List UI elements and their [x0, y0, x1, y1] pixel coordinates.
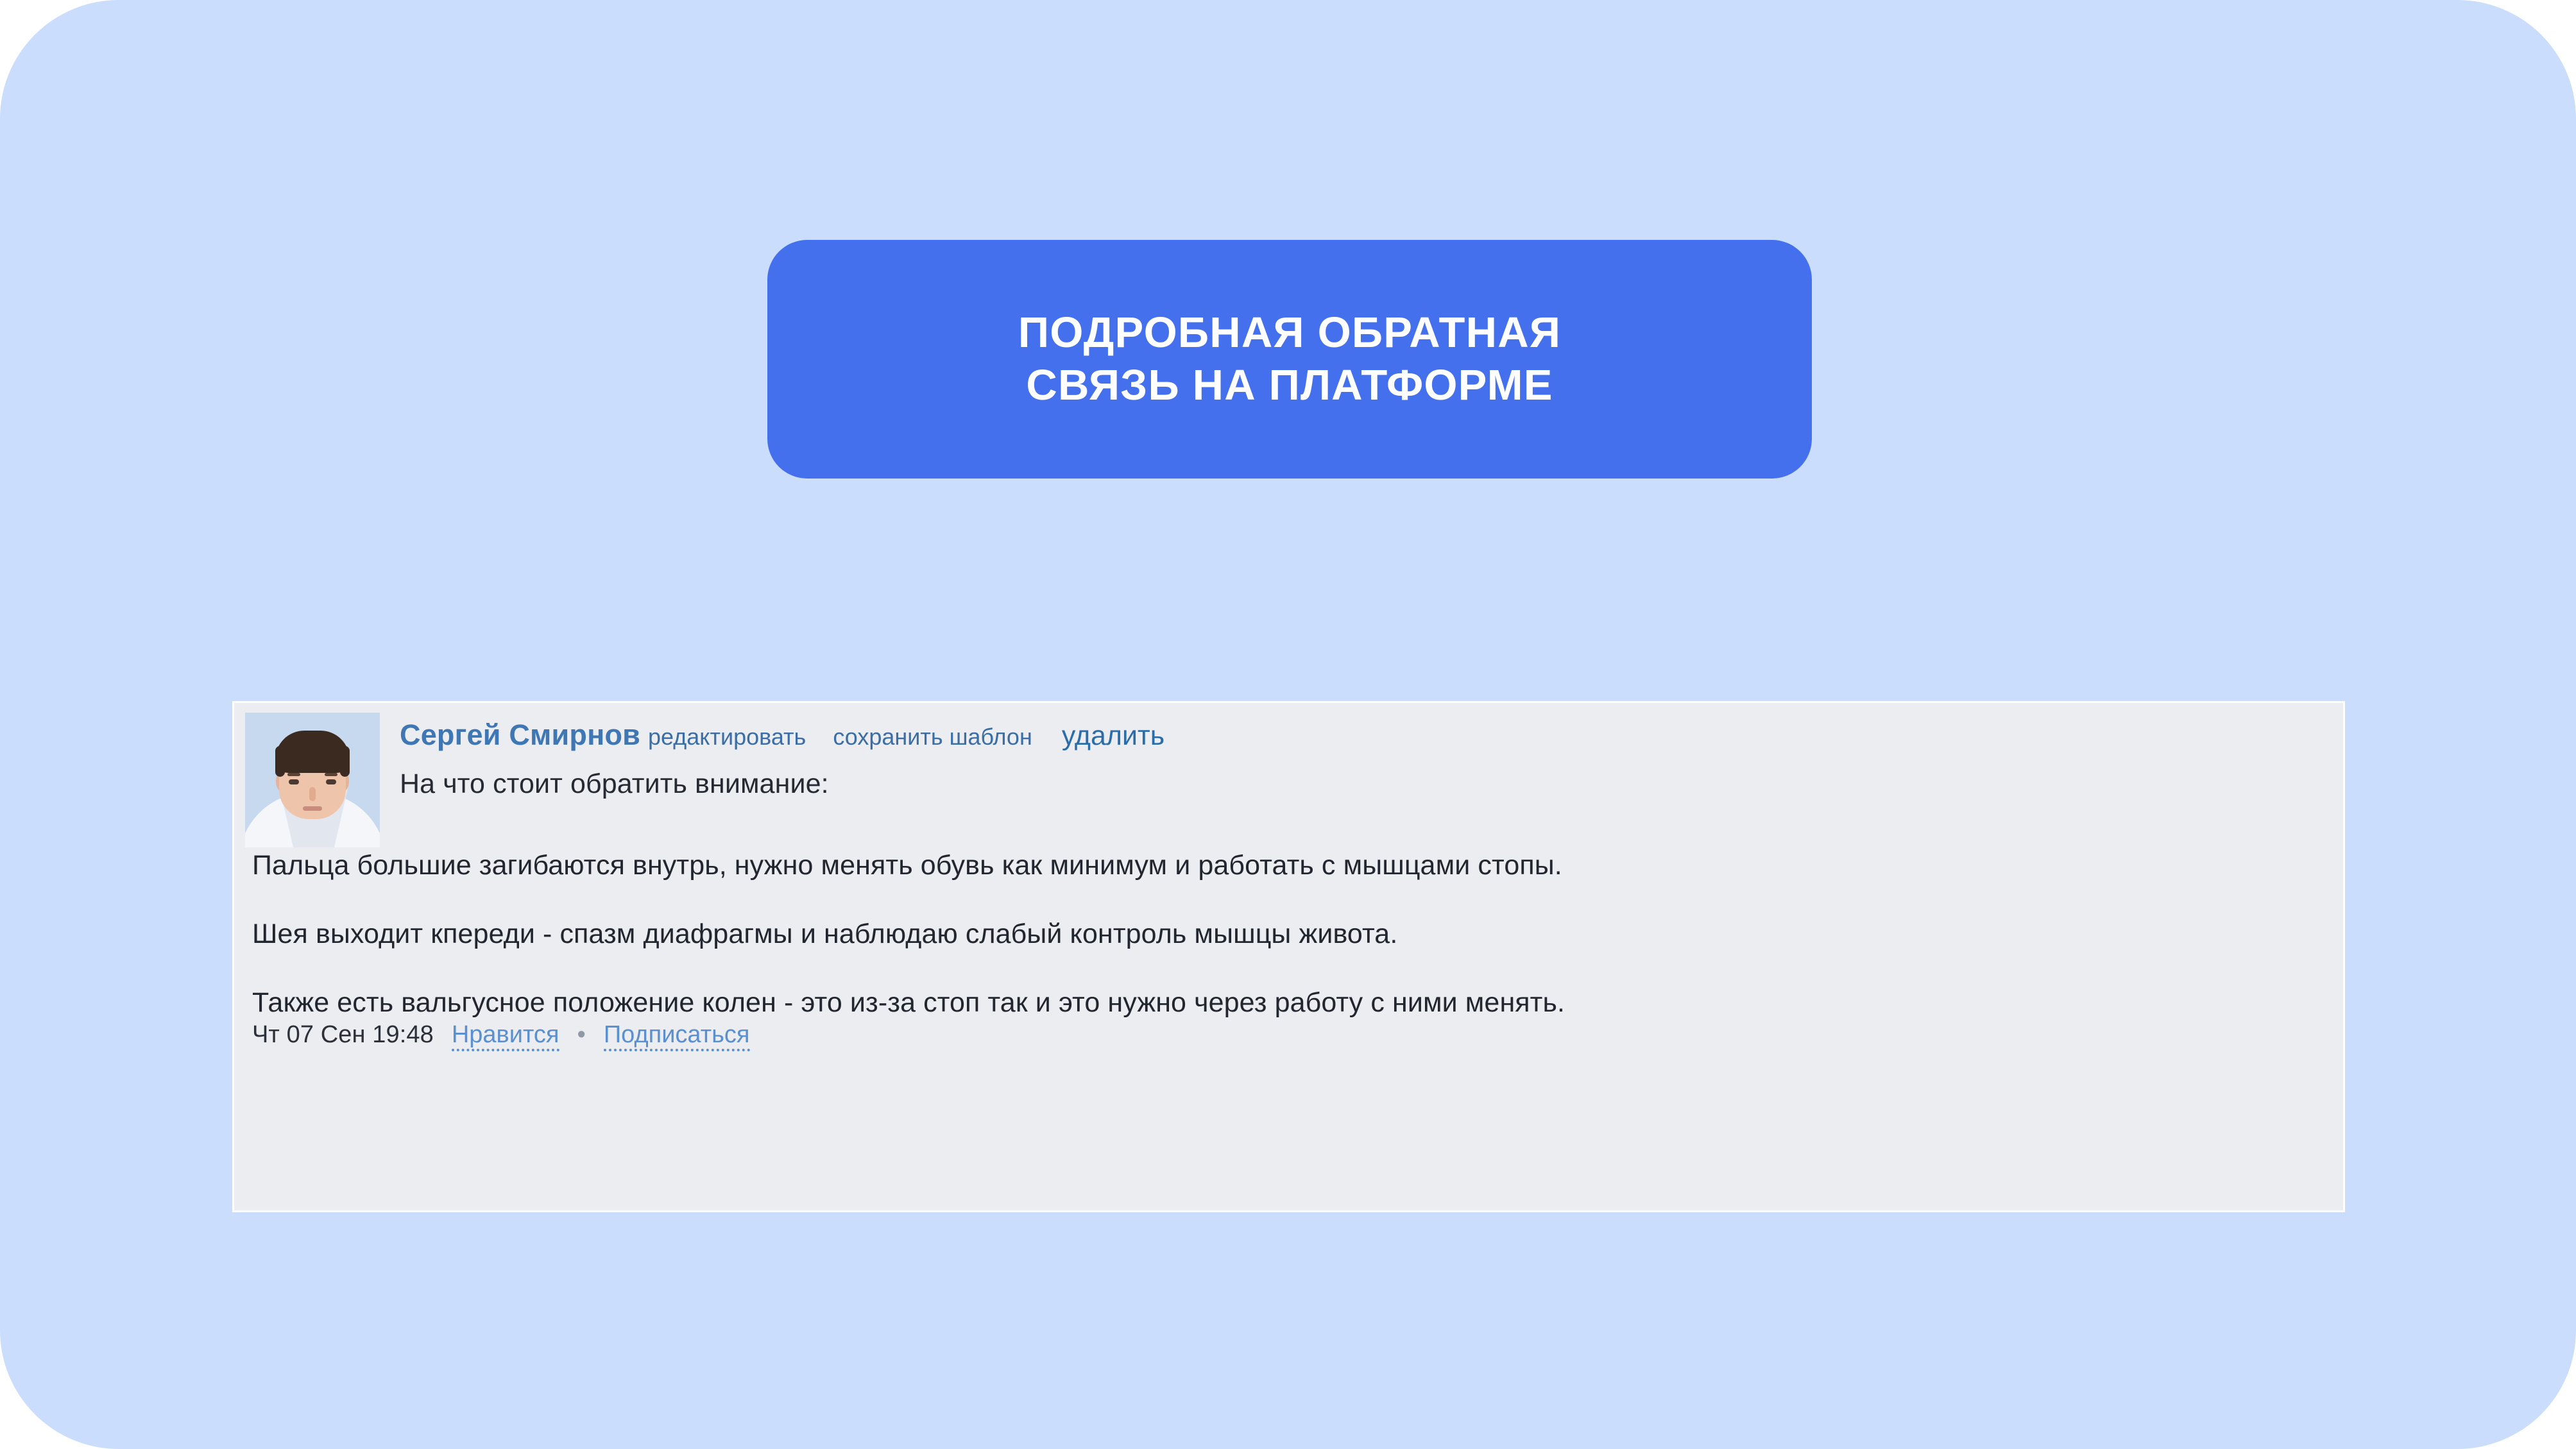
avatar-brow-right [325, 773, 337, 776]
author-row: Сергей Смирнов редактировать сохранить ш… [400, 718, 2330, 752]
page-canvas: ПОДРОБНАЯ ОБРАТНАЯ СВЯЗЬ НА ПЛАТФОРМЕ [0, 0, 2576, 1449]
avatar-eye-left [289, 779, 299, 784]
heading-badge-text: ПОДРОБНАЯ ОБРАТНАЯ СВЯЗЬ НА ПЛАТФОРМЕ [1018, 307, 1561, 411]
avatar-eye-right [326, 779, 336, 784]
comment-timestamp: Чт 07 Сен 19:48 [252, 1021, 434, 1049]
comment-card: Сергей Смирнов редактировать сохранить ш… [232, 701, 2345, 1212]
heading-badge: ПОДРОБНАЯ ОБРАТНАЯ СВЯЗЬ НА ПЛАТФОРМЕ [767, 240, 1812, 479]
avatar-hair-side-left [275, 746, 285, 777]
edit-link[interactable]: редактировать [648, 724, 806, 750]
comment-paragraph: Шея выходит кпереди - спазм диафрагмы и … [252, 920, 2325, 949]
avatar-brow-left [287, 773, 300, 776]
author-name[interactable]: Сергей Смирнов [400, 718, 640, 752]
comment-paragraph: Также есть вальгусное положение колен - … [252, 988, 2325, 1017]
avatar-hair [275, 731, 350, 773]
comment-body: Пальца большие загибаются внутрь, нужно … [234, 847, 2343, 1017]
comment-header: Сергей Смирнов редактировать сохранить ш… [234, 703, 2343, 847]
comment-footer: Чт 07 Сен 19:48 Нравится • Подписаться [234, 1021, 2343, 1051]
comment-header-text: Сергей Смирнов редактировать сохранить ш… [400, 718, 2330, 800]
footer-separator: • [577, 1021, 586, 1049]
avatar [245, 713, 380, 847]
delete-link[interactable]: удалить [1062, 720, 1164, 752]
avatar-nose [309, 787, 316, 801]
like-link[interactable]: Нравится [452, 1021, 559, 1051]
avatar-mouth [303, 806, 322, 811]
subscribe-link[interactable]: Подписаться [604, 1021, 750, 1051]
comment-paragraph: Пальца большие загибаются внутрь, нужно … [252, 851, 2325, 880]
comment-intro: На что стоит обратить внимание: [400, 768, 2330, 800]
avatar-hair-side-right [340, 746, 350, 777]
save-template-link[interactable]: сохранить шаблон [833, 724, 1032, 750]
